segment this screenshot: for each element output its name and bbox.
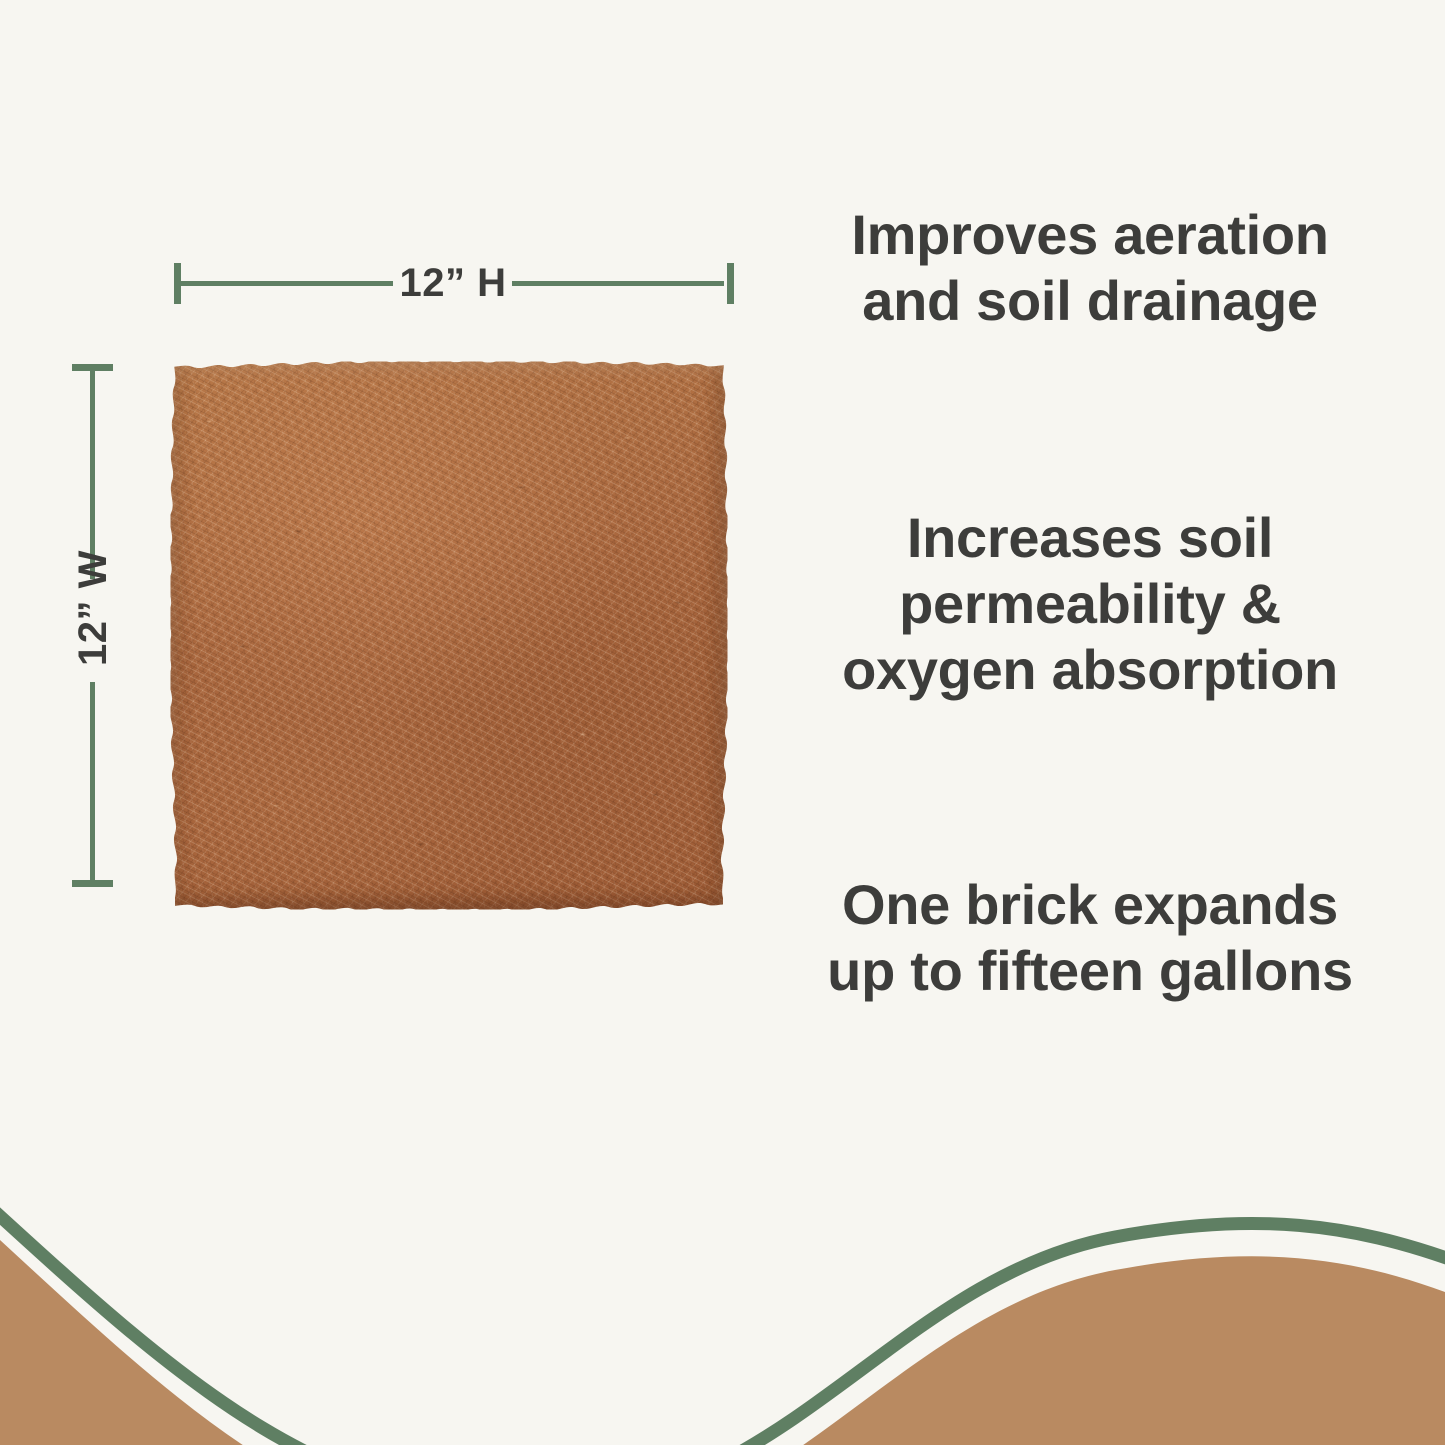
benefit-line: permeability & <box>780 571 1400 637</box>
benefit-aeration-drainage: Improves aeration and soil drainage <box>780 202 1400 334</box>
benefit-line: and soil drainage <box>780 268 1400 334</box>
benefit-permeability-oxygen: Increases soil permeability & oxygen abs… <box>780 505 1400 703</box>
dimension-callout-height: 12” H <box>174 252 734 314</box>
bottom-wave-decoration <box>0 1145 1445 1445</box>
dimension-label-width: 12” W <box>62 547 124 669</box>
benefit-line: up to fifteen gallons <box>780 938 1400 1004</box>
infographic-canvas: 12” H 12” W <box>0 0 1445 1445</box>
product-visual-area: 12” H 12” W <box>0 0 790 1100</box>
dimension-callout-width: 12” W <box>64 362 126 892</box>
dimension-line-bottom <box>90 682 95 882</box>
dimension-line-right <box>512 281 724 286</box>
wave-tan-fill <box>0 1240 1445 1445</box>
coco-coir-brick-image <box>170 361 728 910</box>
dimension-endcap-right <box>727 263 734 304</box>
dimension-line-left <box>179 281 393 286</box>
benefit-expansion-volume: One brick expands up to fifteen gallons <box>780 872 1400 1004</box>
benefit-line: One brick expands <box>780 872 1400 938</box>
dimension-endcap-top <box>72 364 113 371</box>
wave-green-stroke <box>0 1207 1445 1445</box>
benefit-line: Improves aeration <box>780 202 1400 268</box>
benefit-line: oxygen absorption <box>780 637 1400 703</box>
benefits-column: Improves aeration and soil drainage Incr… <box>780 0 1400 1100</box>
benefit-line: Increases soil <box>780 505 1400 571</box>
dimension-label-height: 12” H <box>392 252 514 314</box>
dimension-endcap-bottom <box>72 880 113 887</box>
brick-surface-texture <box>170 361 728 910</box>
